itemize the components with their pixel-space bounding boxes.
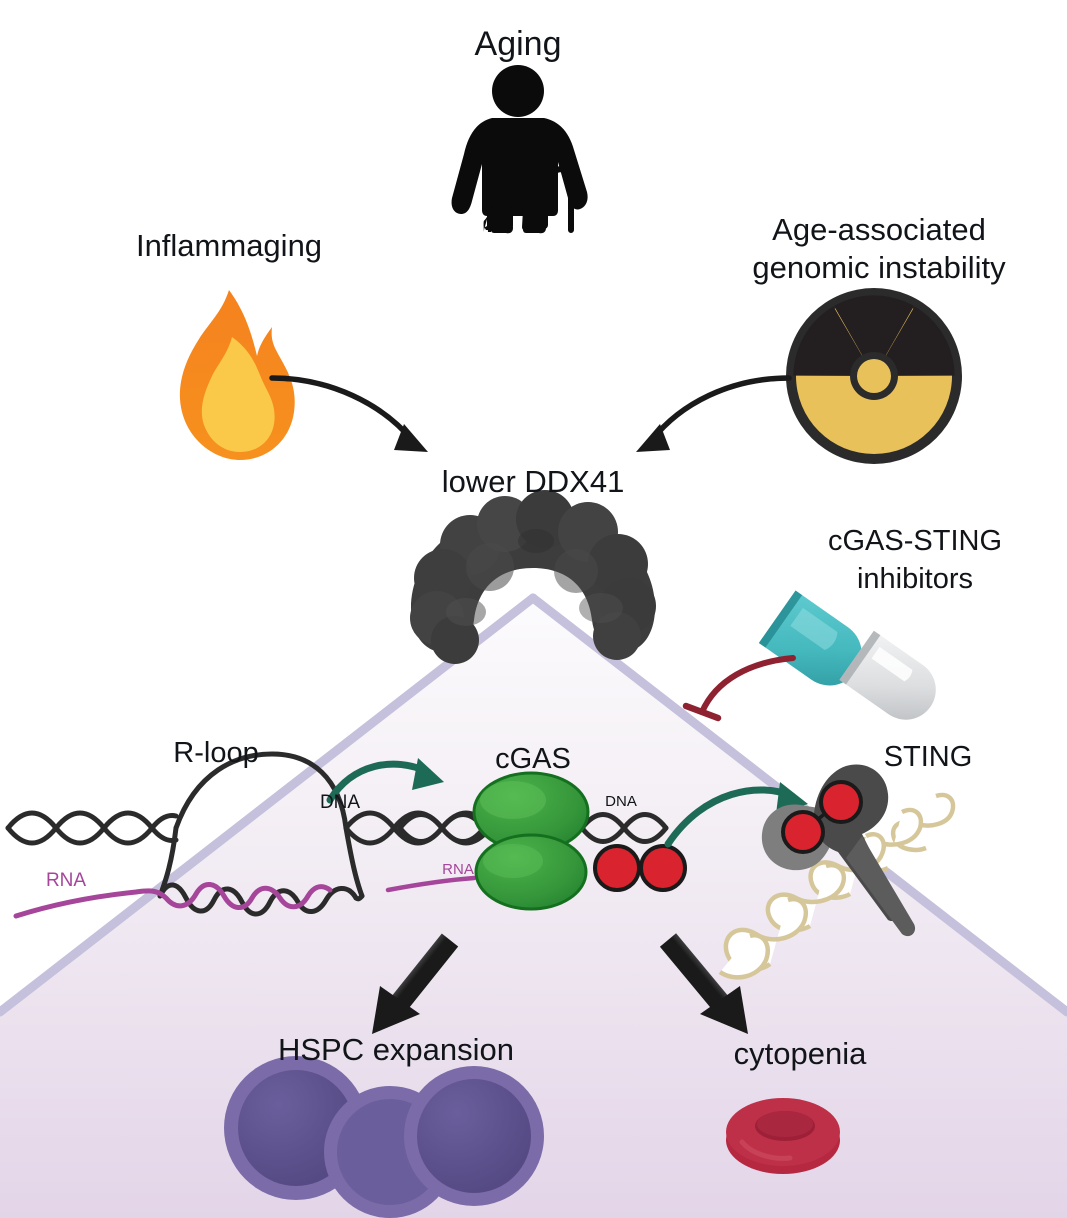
hspc-cells-icon <box>224 1056 544 1218</box>
red-blood-cell-icon <box>726 1098 840 1174</box>
label-r-loop: R-loop <box>146 736 286 770</box>
label-inhibitors-line2: inhibitors <box>800 562 1030 596</box>
label-inhibitors-line1: cGAS-STING <box>800 524 1030 558</box>
label-aging: Aging <box>438 24 598 64</box>
label-dna-left: DNA <box>310 792 370 814</box>
label-rna-right: RNA <box>433 861 483 879</box>
label-genomic-instability-line1: Age-associated <box>724 212 1034 249</box>
label-hspc-expansion: HSPC expansion <box>246 1032 546 1069</box>
label-genomic-instability-line2: genomic instability <box>714 250 1044 287</box>
pathway-figure: Aging Inflammaging Age-associated genomi… <box>0 0 1067 1218</box>
label-rna-left: RNA <box>36 870 96 892</box>
label-lower-ddx41: lower DDX41 <box>418 464 648 501</box>
label-sting: STING <box>858 740 998 774</box>
label-dna-right: DNA <box>596 793 646 811</box>
label-inflammaging: Inflammaging <box>104 228 354 265</box>
arrow-to-hspc-expansion <box>372 940 450 1034</box>
label-cytopenia: cytopenia <box>700 1036 900 1073</box>
arrow-to-cytopenia <box>668 940 748 1034</box>
label-cgas: cGAS <box>473 742 593 776</box>
